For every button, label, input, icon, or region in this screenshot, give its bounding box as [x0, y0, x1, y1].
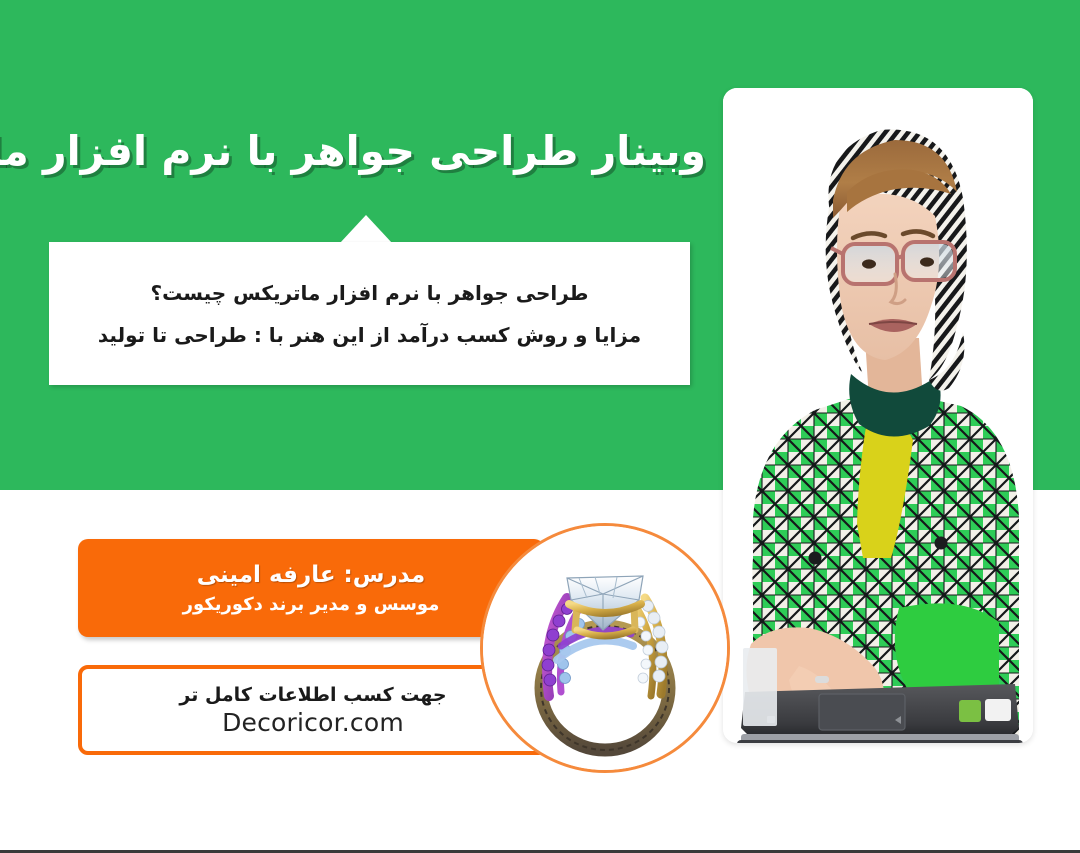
ring-graphic-circle	[480, 523, 730, 773]
speaker-photo-card	[723, 88, 1033, 743]
instructor-name: مدرس: عارفه امینی	[197, 562, 425, 588]
more-info-box[interactable]: جهت کسب اطلاعات کامل تر Decoricor.com	[78, 665, 548, 755]
description-card: طراحی جواهر با نرم افزار ماتریکس چیست؟ م…	[49, 242, 690, 385]
website-url[interactable]: Decoricor.com	[222, 708, 404, 737]
poster-canvas: وبینار طراحی جواهر با نرم افزار ماتریکس …	[0, 0, 1080, 853]
jewelry-ring-icon	[483, 526, 727, 770]
description-line-2: مزایا و روش کسب درآمد از این هنر با : طر…	[98, 322, 641, 348]
triangle-pointer-icon	[340, 215, 392, 243]
more-info-label: جهت کسب اطلاعات کامل تر	[179, 684, 446, 706]
page-title: وبینار طراحی جواهر با نرم افزار ماتریکس	[36, 126, 706, 176]
description-line-1: طراحی جواهر با نرم افزار ماتریکس چیست؟	[150, 280, 588, 306]
speaker-photo	[723, 88, 1033, 743]
instructor-role: موسس و مدیر برند دکوریکور	[183, 594, 440, 615]
instructor-box: مدرس: عارفه امینی موسس و مدیر برند دکوری…	[78, 539, 544, 637]
